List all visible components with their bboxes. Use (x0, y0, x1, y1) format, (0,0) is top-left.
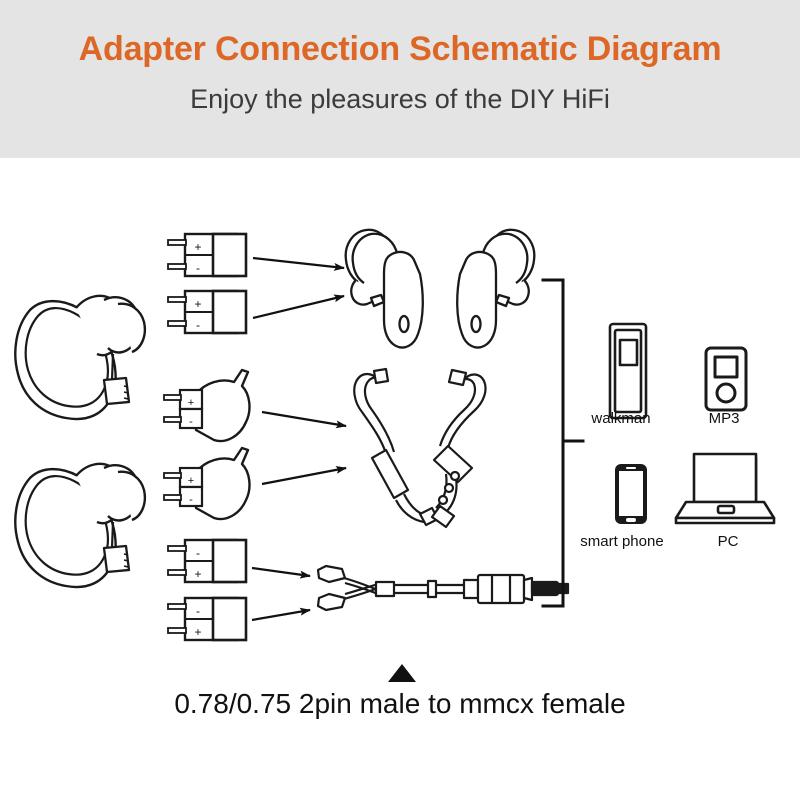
device-label-smart-phone: smart phone (560, 533, 684, 550)
schematic-page: Adapter Connection Schematic Diagram Enj… (0, 0, 800, 800)
polarity-plus: + (194, 567, 201, 581)
caption-text: 0.78/0.75 2pin male to mmcx female (0, 688, 800, 720)
connection-arrow (262, 412, 346, 426)
2pin-straight-adapter-icon: + - (168, 234, 246, 276)
walkman-icon (610, 324, 646, 418)
polarity-minus: - (196, 604, 200, 618)
2pin-straight-adapter-icon: - + (168, 598, 246, 640)
tws-earhook-icon (346, 230, 423, 348)
polarity-plus: + (188, 475, 194, 487)
laptop-icon (676, 454, 774, 523)
mp3-player-icon (706, 348, 746, 410)
tws-earhook-icon (457, 230, 534, 348)
bracket-icon (543, 280, 583, 606)
2pin-straight-adapter-icon: + - (168, 291, 246, 333)
polarity-minus: - (196, 318, 200, 332)
device-label-mp3: MP3 (684, 410, 764, 427)
connection-arrow (253, 258, 344, 268)
polarity-plus: + (194, 240, 201, 254)
2pin-angled-adapter-icon: + - (164, 370, 249, 441)
connection-arrow (252, 610, 310, 620)
polarity-minus: - (196, 546, 200, 560)
device-label-walkman: walkman (566, 410, 676, 427)
device-label-pc: PC (688, 533, 768, 550)
header-band: Adapter Connection Schematic Diagram Enj… (0, 0, 800, 158)
audio-cable-3p5mm-icon (318, 566, 568, 610)
connection-arrow (262, 468, 346, 484)
polarity-plus: + (194, 625, 201, 639)
connection-arrow (252, 568, 310, 576)
bluetooth-neckband-icon (354, 369, 485, 527)
connection-arrow (253, 296, 344, 318)
earphone-shell-icon (15, 464, 145, 587)
2pin-angled-adapter-icon: + - (164, 448, 249, 519)
polarity-minus: - (189, 416, 193, 428)
2pin-straight-adapter-icon: - + (168, 540, 246, 582)
page-title: Adapter Connection Schematic Diagram (0, 30, 800, 69)
up-triangle-icon (386, 662, 418, 684)
polarity-minus: - (196, 261, 200, 275)
polarity-minus: - (189, 494, 193, 506)
polarity-plus: + (188, 397, 194, 409)
earphone-shell-icon (15, 296, 145, 419)
smartphone-icon (615, 464, 647, 524)
page-subtitle: Enjoy the pleasures of the DIY HiFi (0, 84, 800, 115)
polarity-plus: + (194, 297, 201, 311)
